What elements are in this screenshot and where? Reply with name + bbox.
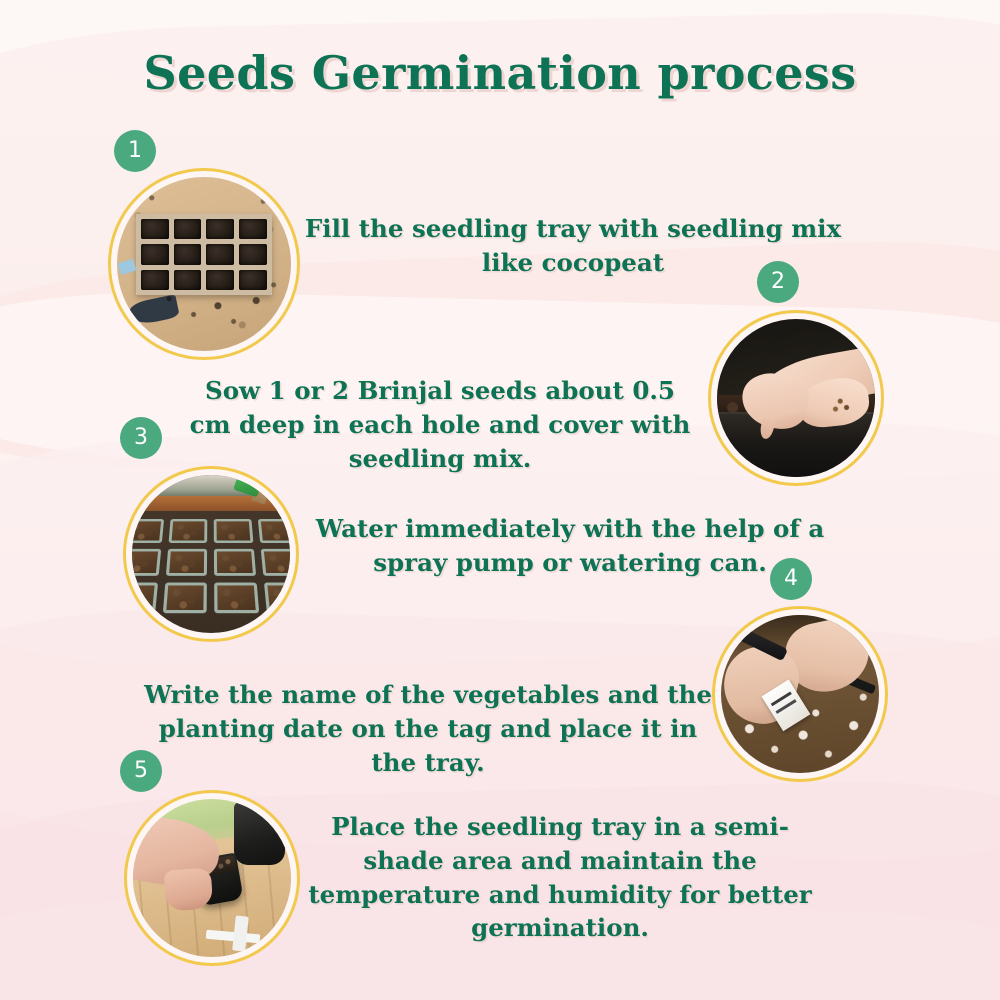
step-1-image-inner [117,177,291,351]
step-3-number-badge: 3 [120,417,162,459]
tray-cell [132,549,161,576]
step-5-image [124,790,300,966]
step-4-number-badge: 4 [770,558,812,600]
step-1-number-badge: 1 [114,130,156,172]
soil-crumbs [117,177,291,351]
writing-plant-tag-photo [721,615,879,773]
step-2-text: Sow 1 or 2 Brinjal seeds about 0.5 cm de… [182,374,698,475]
seedling-tray-filled-with-soil-photo [117,177,291,351]
step-5-number-badge: 5 [120,750,162,792]
tray-cell [132,582,158,613]
step-1-image [108,168,300,360]
step-2-image-inner [717,319,875,477]
water-spray [221,489,267,558]
watering-seedling-tray-photo [132,475,290,633]
tray-cell [264,582,290,613]
tray-cell [132,519,164,543]
tray-cell [169,519,208,543]
step-5-text: Place the seedling tray in a semi-shade … [296,810,824,945]
step-3-image [123,466,299,642]
large-black-pot [234,802,285,865]
step-3-image-inner [132,475,290,633]
tray-cell [166,549,208,576]
page-title: Seeds Germination process [0,46,1000,100]
step-3-text: Water immediately with the help of a spr… [292,512,848,580]
handwriting-on-tag [770,691,791,706]
tray-cell [163,582,208,613]
seeds-in-palm [717,319,875,477]
placing-tray-in-shade-photo [133,799,291,957]
step-5-image-inner [133,799,291,957]
step-4-image-inner [721,615,879,773]
step-2-number-badge: 2 [757,261,799,303]
step-2-image [708,310,884,486]
tray-cell [215,582,260,613]
step-4-text: Write the name of the vegetables and the… [142,678,714,779]
tray-cell [261,549,290,576]
hands-sowing-seeds-photo [717,319,875,477]
step-4-image [712,606,888,782]
tray-grid [132,519,290,613]
infographic-poster: Seeds Germination process [0,0,1000,1000]
